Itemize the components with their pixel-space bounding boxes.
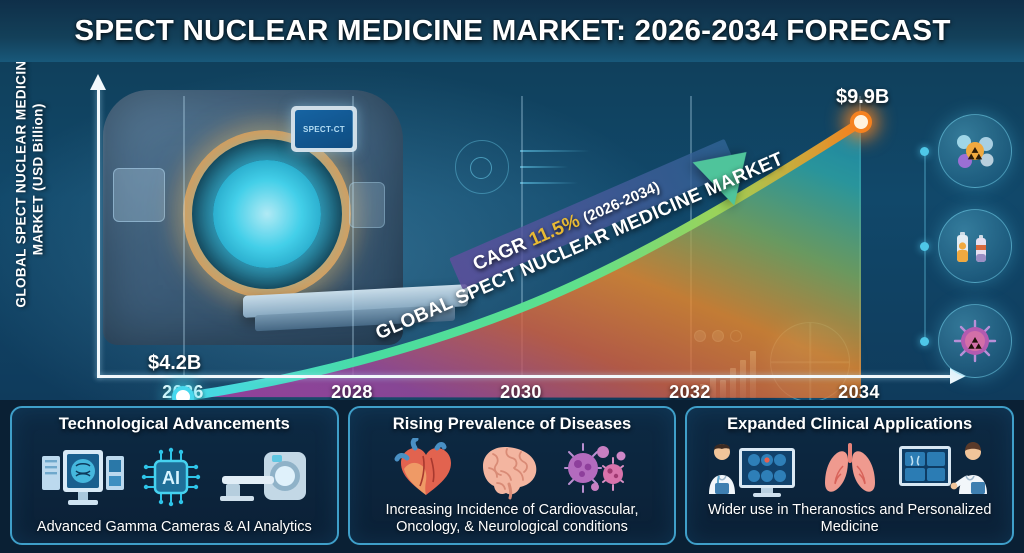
- radioisotope-molecule-icon: [938, 114, 1012, 188]
- card-expanded-clinical-applications[interactable]: Expanded Clinical Applications: [685, 406, 1014, 545]
- card-title: Technological Advancements: [59, 415, 290, 434]
- chart-area: SPECT-CT: [0, 62, 1024, 400]
- scanner-icon: [216, 446, 308, 508]
- side-icon-rail: [920, 114, 1016, 364]
- page-title: SPECT NUCLEAR MEDICINE MARKET: 2026-2034…: [74, 15, 950, 48]
- heart-icon: [393, 438, 459, 500]
- start-value-label: $4.2B: [148, 352, 201, 375]
- doctor-scan-review-icon: [705, 438, 805, 500]
- driver-cards-row: Technological Advancements: [0, 400, 1024, 553]
- card-title: Expanded Clinical Applications: [727, 415, 972, 434]
- rail-dot: [920, 147, 929, 156]
- lungs-icon: [819, 438, 881, 500]
- radiopharmaceutical-vials-icon: [938, 209, 1012, 283]
- cancer-cells-icon: [559, 438, 631, 500]
- data-point-marker-2034: [850, 111, 872, 133]
- imaging-workstation-icon: [40, 446, 126, 508]
- rail-dot: [920, 337, 929, 346]
- x-axis: [97, 375, 952, 378]
- x-tick-2030: 2030: [500, 382, 542, 400]
- x-axis-tick-labels: 2026 2028 2030 2032 2034: [97, 382, 952, 400]
- x-tick-2028: 2028: [331, 382, 373, 400]
- card-icon-group: AI: [18, 436, 331, 519]
- y-axis: [97, 88, 100, 378]
- card-description: Advanced Gamma Cameras & AI Analytics: [37, 519, 312, 537]
- infographic-root: SPECT NUCLEAR MEDICINE MARKET: 2026-2034…: [0, 0, 1024, 553]
- x-tick-2034: 2034: [838, 382, 880, 400]
- card-rising-prevalence-of-diseases[interactable]: Rising Prevalence of Diseases: [348, 406, 677, 545]
- y-axis-label: GLOBAL SPECT NUCLEAR MEDICINE MARKET (US…: [13, 62, 48, 317]
- card-description: Increasing Incidence of Cardiovascular, …: [356, 502, 669, 537]
- clinician-display-icon: [895, 438, 995, 500]
- rail-dot: [920, 242, 929, 251]
- card-title: Rising Prevalence of Diseases: [393, 415, 631, 434]
- card-icon-group: [356, 436, 669, 502]
- header-banner: SPECT NUCLEAR MEDICINE MARKET: 2026-2034…: [0, 0, 1024, 62]
- card-description: Wider use in Theranostics and Personaliz…: [693, 502, 1006, 537]
- card-technological-advancements[interactable]: Technological Advancements: [10, 406, 339, 545]
- ai-chip-icon: AI: [140, 446, 202, 508]
- end-value-label: $9.9B: [836, 86, 889, 109]
- svg-text:AI: AI: [162, 468, 180, 488]
- brain-icon: [473, 438, 545, 500]
- radioactive-cell-icon: [938, 304, 1012, 378]
- card-icon-group: [693, 436, 1006, 502]
- x-tick-2032: 2032: [669, 382, 711, 400]
